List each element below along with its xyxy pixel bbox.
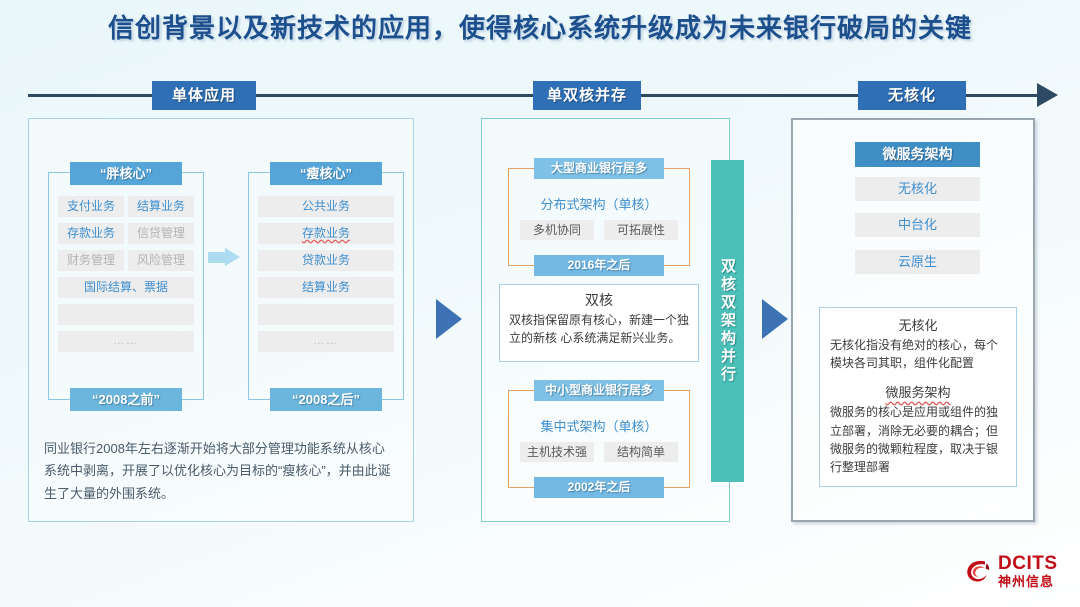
core-footer-before-2008: “2008之前” bbox=[70, 388, 182, 411]
chip-item[interactable]: 风险管理 bbox=[128, 250, 194, 271]
chip-item[interactable]: 支付业务 bbox=[58, 196, 124, 217]
chip-item[interactable]: 结构简单 bbox=[604, 442, 678, 462]
chip-item-blank bbox=[58, 304, 194, 325]
panel-transition-arrow-icon-2 bbox=[762, 299, 788, 339]
microservice-architecture-caption: 微服务架构 bbox=[855, 142, 980, 167]
arch-group-caption: 中小型商业银行居多 bbox=[534, 380, 664, 401]
company-logo: DCITS 神州信息 bbox=[963, 549, 1067, 593]
page-title: 信创背景以及新技术的应用，使得核心系统升级成为未来银行破局的关键 bbox=[0, 8, 1080, 45]
logo-text-cn: 神州信息 bbox=[998, 575, 1058, 588]
slide-canvas: 信创背景以及新技术的应用，使得核心系统升级成为未来银行破局的关键 单体应用 单双… bbox=[0, 0, 1080, 607]
logo-words: DCITS 神州信息 bbox=[998, 554, 1058, 588]
chip-item[interactable]: 可拓展性 bbox=[604, 220, 678, 240]
chip-item[interactable]: 贷款业务 bbox=[258, 250, 394, 271]
chip-item[interactable]: 财务管理 bbox=[58, 250, 124, 271]
chip-item[interactable]: 无核化 bbox=[855, 177, 980, 201]
timeline-stage-dual-core[interactable]: 单双核并存 bbox=[533, 81, 641, 110]
chip-item-ellipsis: …… bbox=[58, 331, 194, 352]
dual-core-description-box: 双核 双核指保留原有核心，新建一个独立的新核 心系统满足新兴业务。 bbox=[499, 284, 699, 362]
vertical-label-dual-core-parallel: 双核双架构并行 bbox=[711, 160, 744, 482]
core-caption-fat: “胖核心” bbox=[70, 162, 182, 185]
timeline-stage-single-app[interactable]: 单体应用 bbox=[152, 81, 256, 110]
chip-item[interactable]: 存款业务 bbox=[258, 223, 394, 244]
microservice-body: 微服务的核心是应用或组件的独立部署，消除无必要的耦合；但微服务的微颗粒程度，取决… bbox=[830, 403, 1006, 476]
core-caption-thin: “瘦核心” bbox=[270, 162, 382, 185]
arch-group-subtitle: 分布式架构（单核） bbox=[508, 194, 690, 213]
core-chip-list-fat: 支付业务 结算业务 存款业务 信贷管理 财务管理 风险管理 国际结算、票据 …… bbox=[58, 196, 194, 352]
chip-item[interactable]: 结算业务 bbox=[258, 277, 394, 298]
arch-group-chip-list: 多机协同 可拓展性 bbox=[520, 220, 678, 240]
coreless-title: 无核化 bbox=[830, 315, 1006, 334]
arch-group-caption: 大型商业银行居多 bbox=[534, 158, 664, 179]
chip-item-ellipsis: …… bbox=[258, 331, 394, 352]
chip-item-blank bbox=[258, 304, 394, 325]
arch-group-chip-list: 主机技术强 结构简单 bbox=[520, 442, 678, 462]
arch-group-footer-year: 2016年之后 bbox=[534, 255, 664, 276]
chip-item[interactable]: 公共业务 bbox=[258, 196, 394, 217]
core-footer-after-2008: “2008之后” bbox=[270, 388, 382, 411]
dcits-swirl-icon bbox=[963, 555, 995, 587]
chip-item[interactable]: 多机协同 bbox=[520, 220, 594, 240]
coreless-body: 无核化指没有绝对的核心，每个模块各司其职，组件化配置 bbox=[830, 336, 1006, 372]
panel-single-application-note: 同业银行2008年左右逐渐开始将大部分管理功能系统从核心系统中剥离，开展了以优化… bbox=[44, 438, 392, 505]
chip-item[interactable]: 信贷管理 bbox=[128, 223, 194, 244]
chip-item[interactable]: 主机技术强 bbox=[520, 442, 594, 462]
chip-item[interactable]: 云原生 bbox=[855, 250, 980, 274]
dual-core-body: 双核指保留原有核心，新建一个独立的新核 心系统满足新兴业务。 bbox=[509, 311, 689, 347]
arch-group-footer-year: 2002年之后 bbox=[534, 477, 664, 498]
arch-group-frame bbox=[508, 390, 690, 488]
timeline-stage-coreless[interactable]: 无核化 bbox=[858, 81, 966, 110]
core-evolution-arrow-icon bbox=[208, 248, 240, 266]
chip-item[interactable]: 中台化 bbox=[855, 213, 980, 237]
panel-transition-arrow-icon-1 bbox=[436, 299, 462, 339]
chip-item[interactable]: 结算业务 bbox=[128, 196, 194, 217]
core-chip-list-thin: 公共业务 存款业务 贷款业务 结算业务 …… bbox=[258, 196, 394, 352]
logo-text-en: DCITS bbox=[998, 554, 1058, 573]
arch-group-frame bbox=[508, 168, 690, 266]
dual-core-title: 双核 bbox=[509, 290, 689, 310]
timeline-arrow-icon bbox=[1037, 83, 1058, 107]
arch-group-subtitle: 集中式架构（单核） bbox=[508, 416, 690, 435]
chip-item[interactable]: 国际结算、票据 bbox=[58, 277, 194, 298]
microservice-title: 微服务架构 bbox=[830, 382, 1006, 401]
chip-item[interactable]: 存款业务 bbox=[58, 223, 124, 244]
coreless-description-box: 无核化 无核化指没有绝对的核心，每个模块各司其职，组件化配置 微服务架构 微服务… bbox=[819, 307, 1017, 487]
